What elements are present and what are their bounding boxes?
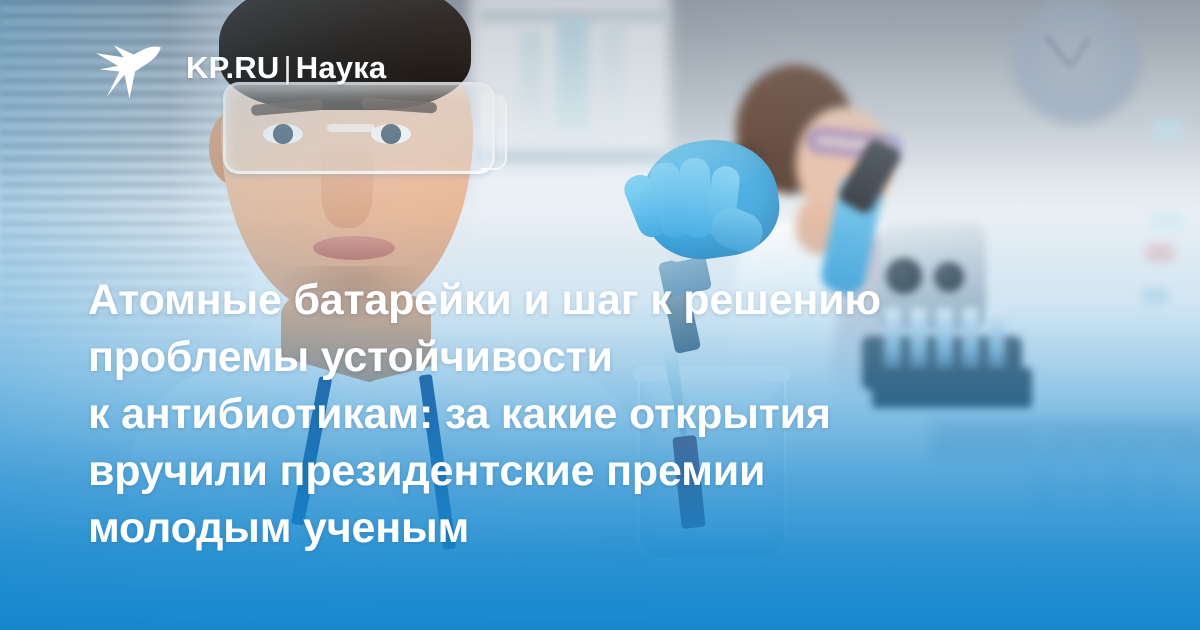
headline-line: проблемы устойчивости <box>88 329 1048 386</box>
headline-line: Атомные батарейки и шаг к решению <box>88 272 1048 329</box>
brand-site: KP.RU <box>186 50 279 85</box>
social-share-card: KP.RU|Наука Атомные батарейки и шаг к ре… <box>0 0 1200 630</box>
brand-label: KP.RU|Наука <box>186 50 386 86</box>
swallow-bird-icon[interactable] <box>92 36 164 100</box>
headline-line: вручили президентские премии <box>88 443 1048 500</box>
brand-section: Наука <box>296 50 387 85</box>
headline: Атомные батарейки и шаг к решению пробле… <box>88 272 1048 557</box>
headline-line: молодым ученым <box>88 500 1048 557</box>
headline-line: к антибиотикам: за какие открытия <box>88 386 1048 443</box>
brand-bar[interactable]: KP.RU|Наука <box>92 36 386 100</box>
brand-separator: | <box>279 50 295 85</box>
